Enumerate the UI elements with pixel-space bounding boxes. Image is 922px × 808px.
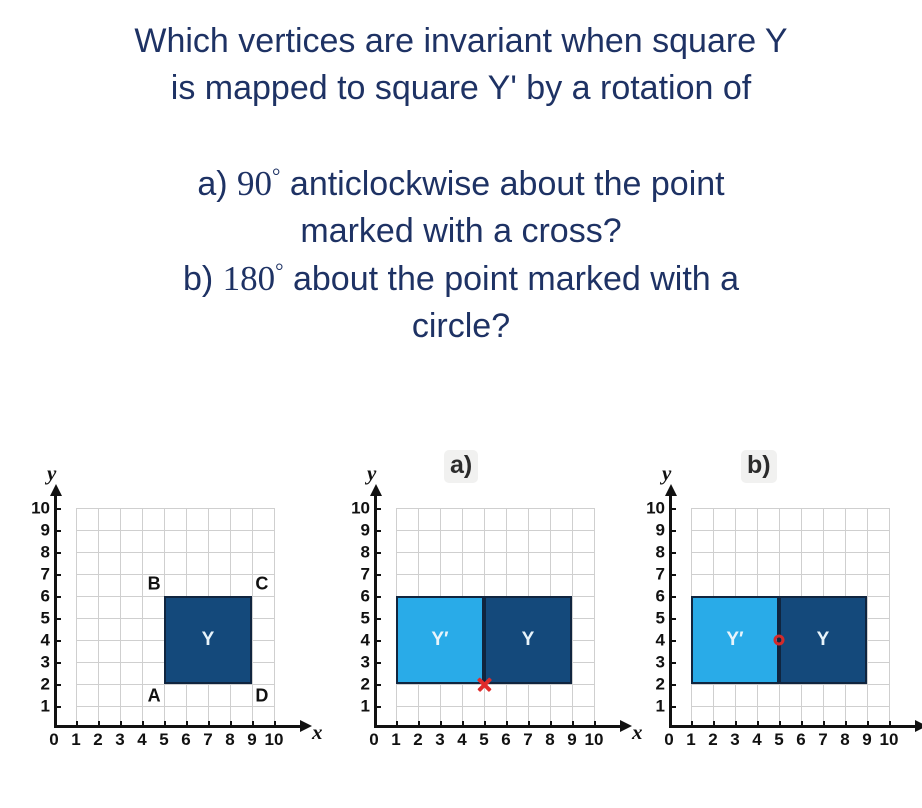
x-tick: 9	[252, 721, 254, 728]
x-axis-line	[669, 725, 917, 728]
y-tick: 7	[54, 574, 61, 576]
y-tick: 10	[374, 508, 381, 510]
x-tick: 8	[230, 721, 232, 728]
y-tick-label: 6	[361, 588, 370, 605]
shape-label-y: Y	[202, 629, 215, 651]
y-tick-label: 9	[361, 522, 370, 539]
y-axis-label: y	[47, 461, 56, 486]
y-tick: 3	[374, 662, 381, 664]
graph-panel-original: YABCDyx12345678910012345678910	[2, 490, 307, 800]
x-tick-label: 2	[413, 731, 422, 748]
part-a-angle: 90°	[237, 164, 280, 203]
y-tick-label: 2	[361, 676, 370, 693]
part-b-text: about the point marked with a	[293, 260, 739, 298]
x-tick: 10	[889, 721, 891, 728]
y-tick-label: 3	[41, 654, 50, 671]
y-tick: 5	[54, 618, 61, 620]
y-tick: 3	[54, 662, 61, 664]
y-tick: 9	[54, 530, 61, 532]
circle-marker-icon	[774, 635, 785, 646]
x-axis-line	[54, 725, 302, 728]
x-tick: 9	[572, 721, 574, 728]
y-tick: 8	[54, 552, 61, 554]
x-tick-label: 10	[880, 731, 899, 748]
x-tick: 1	[396, 721, 398, 728]
x-tick-label: 9	[862, 731, 871, 748]
x-tick-label: 0	[49, 731, 58, 748]
x-tick: 5	[779, 721, 781, 728]
y-tick: 10	[54, 508, 61, 510]
x-tick-label: 6	[501, 731, 510, 748]
y-tick-label: 1	[41, 698, 50, 715]
x-tick-label: 1	[71, 731, 80, 748]
y-tick-label: 3	[656, 654, 665, 671]
question-spacer	[0, 112, 922, 160]
coordinate-plot: Y′Yyx12345678910012345678910	[669, 508, 889, 728]
y-tick: 1	[669, 706, 676, 708]
y-tick: 6	[374, 596, 381, 598]
x-tick-label: 0	[664, 731, 673, 748]
x-tick: 0	[669, 721, 671, 728]
x-tick-label: 2	[708, 731, 717, 748]
shape-label-y: Y	[522, 629, 535, 651]
x-tick-label: 6	[796, 731, 805, 748]
x-tick-label: 10	[265, 731, 284, 748]
y-tick: 1	[54, 706, 61, 708]
x-tick-label: 10	[585, 731, 604, 748]
x-tick-label: 9	[247, 731, 256, 748]
question-part-a-line-1: a) 90° anticlockwise about the point	[0, 160, 922, 208]
x-tick: 3	[120, 721, 122, 728]
y-tick-label: 8	[41, 544, 50, 561]
y-tick: 8	[374, 552, 381, 554]
y-tick-label: 6	[41, 588, 50, 605]
x-tick: 7	[208, 721, 210, 728]
vertex-label-b: B	[148, 573, 161, 594]
x-tick: 0	[54, 721, 56, 728]
y-tick-label: 1	[656, 698, 665, 715]
x-tick: 8	[550, 721, 552, 728]
part-label-b: b)	[741, 450, 777, 483]
y-tick: 3	[669, 662, 676, 664]
x-tick-label: 8	[225, 731, 234, 748]
y-tick-label: 8	[361, 544, 370, 561]
x-tick: 1	[76, 721, 78, 728]
x-tick-label: 3	[435, 731, 444, 748]
question-line-2: is mapped to square Y' by a rotation of	[0, 65, 922, 112]
y-tick: 9	[669, 530, 676, 532]
y-tick-label: 10	[351, 500, 370, 517]
x-tick: 6	[801, 721, 803, 728]
x-tick-label: 9	[567, 731, 576, 748]
y-tick-label: 10	[31, 500, 50, 517]
x-tick-label: 0	[369, 731, 378, 748]
y-axis-label: y	[367, 461, 376, 486]
y-tick-label: 10	[646, 500, 665, 517]
y-tick: 6	[669, 596, 676, 598]
part-b-prefix: b)	[183, 260, 213, 298]
vertex-label-d: D	[255, 686, 268, 707]
y-tick-label: 1	[361, 698, 370, 715]
y-tick-label: 7	[656, 566, 665, 583]
part-label-a: a)	[444, 450, 478, 483]
cross-marker-icon	[476, 676, 493, 693]
y-tick: 8	[669, 552, 676, 554]
y-tick-label: 4	[656, 632, 665, 649]
y-tick-label: 7	[361, 566, 370, 583]
part-a-prefix: a)	[197, 165, 227, 203]
x-tick-label: 4	[752, 731, 761, 748]
x-axis-label: x	[312, 720, 323, 745]
y-tick-label: 2	[41, 676, 50, 693]
x-tick: 3	[440, 721, 442, 728]
y-tick: 2	[54, 684, 61, 686]
x-tick: 0	[374, 721, 376, 728]
x-tick-label: 7	[203, 731, 212, 748]
y-tick: 7	[669, 574, 676, 576]
part-a-text: anticlockwise about the point	[290, 165, 725, 203]
x-tick: 6	[186, 721, 188, 728]
x-tick: 4	[142, 721, 144, 728]
x-tick-label: 5	[479, 731, 488, 748]
y-tick: 4	[374, 640, 381, 642]
y-tick: 4	[669, 640, 676, 642]
y-tick-label: 6	[656, 588, 665, 605]
x-tick-label: 5	[774, 731, 783, 748]
y-axis-label: y	[662, 461, 671, 486]
x-tick-label: 5	[159, 731, 168, 748]
x-tick-label: 6	[181, 731, 190, 748]
x-tick: 5	[484, 721, 486, 728]
x-tick-label: 8	[545, 731, 554, 748]
x-tick: 3	[735, 721, 737, 728]
x-tick: 9	[867, 721, 869, 728]
x-tick-label: 8	[840, 731, 849, 748]
x-tick: 2	[418, 721, 420, 728]
x-tick: 1	[691, 721, 693, 728]
vertex-label-c: C	[255, 573, 268, 594]
x-tick-label: 4	[457, 731, 466, 748]
question-line-1: Which vertices are invariant when square…	[0, 18, 922, 65]
y-tick: 5	[669, 618, 676, 620]
y-tick-label: 5	[41, 610, 50, 627]
x-tick: 2	[98, 721, 100, 728]
x-tick: 5	[164, 721, 166, 728]
x-tick-label: 1	[391, 731, 400, 748]
shape-label-y-prime: Y′	[726, 629, 743, 651]
coordinate-plot: Y′Yyx12345678910012345678910	[374, 508, 594, 728]
y-tick-label: 8	[656, 544, 665, 561]
y-tick-label: 9	[41, 522, 50, 539]
x-tick: 7	[823, 721, 825, 728]
y-tick: 9	[374, 530, 381, 532]
x-tick-label: 3	[115, 731, 124, 748]
y-tick-label: 4	[41, 632, 50, 649]
question-part-b-line-1: b) 180° about the point marked with a	[0, 255, 922, 303]
x-tick-label: 4	[137, 731, 146, 748]
y-tick: 2	[374, 684, 381, 686]
shape-label-y: Y	[817, 629, 830, 651]
question-part-a-line-2: marked with a cross?	[0, 208, 922, 255]
x-axis-arrow-icon	[915, 720, 922, 732]
x-axis-line	[374, 725, 622, 728]
y-tick-label: 9	[656, 522, 665, 539]
y-tick-label: 2	[656, 676, 665, 693]
x-tick-label: 7	[818, 731, 827, 748]
x-tick: 4	[757, 721, 759, 728]
y-tick: 5	[374, 618, 381, 620]
y-tick: 6	[54, 596, 61, 598]
y-tick-label: 3	[361, 654, 370, 671]
x-tick: 8	[845, 721, 847, 728]
x-tick: 2	[713, 721, 715, 728]
x-tick-label: 2	[93, 731, 102, 748]
y-tick-label: 7	[41, 566, 50, 583]
y-tick-label: 5	[656, 610, 665, 627]
x-tick: 7	[528, 721, 530, 728]
question-block: Which vertices are invariant when square…	[0, 18, 922, 350]
x-tick: 10	[594, 721, 596, 728]
x-tick: 10	[274, 721, 276, 728]
y-tick: 4	[54, 640, 61, 642]
x-tick: 4	[462, 721, 464, 728]
y-tick-label: 5	[361, 610, 370, 627]
y-tick: 2	[669, 684, 676, 686]
graph-panel-a: Y′Yyx12345678910012345678910	[322, 490, 627, 800]
x-tick-label: 1	[686, 731, 695, 748]
y-tick-label: 4	[361, 632, 370, 649]
y-tick: 7	[374, 574, 381, 576]
part-b-angle: 180°	[223, 259, 284, 298]
x-tick-label: 7	[523, 731, 532, 748]
x-tick: 6	[506, 721, 508, 728]
question-part-b-line-2: circle?	[0, 303, 922, 350]
graph-panel-b: Y′Yyx12345678910012345678910	[617, 490, 922, 800]
coordinate-plot: YABCDyx12345678910012345678910	[54, 508, 274, 728]
vertex-label-a: A	[148, 686, 161, 707]
x-axis-arrow-icon	[300, 720, 312, 732]
shape-label-y-prime: Y′	[431, 629, 448, 651]
x-tick-label: 3	[730, 731, 739, 748]
y-tick: 1	[374, 706, 381, 708]
y-tick: 10	[669, 508, 676, 510]
